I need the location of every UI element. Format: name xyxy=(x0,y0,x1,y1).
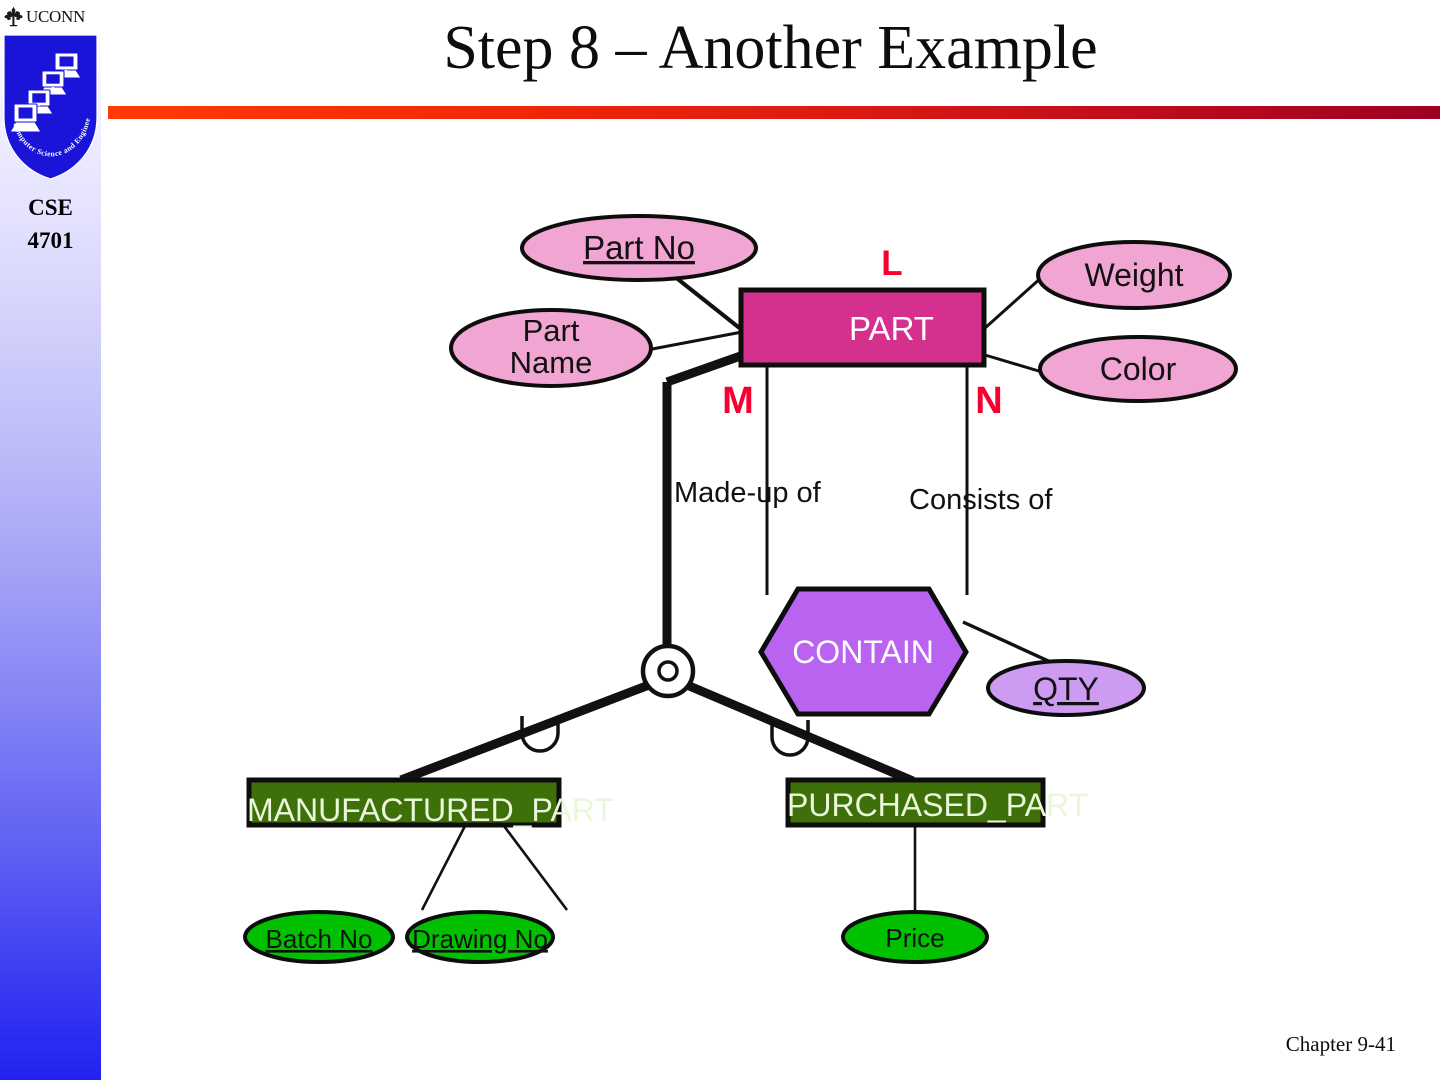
uconn-wordmark: UCONN xyxy=(0,0,101,32)
er-diagram-canvas: PART Part No Part Name Weight Color xyxy=(101,125,1440,1025)
entity-manufactured-part-label: MANUFACTURED_PART xyxy=(247,792,614,828)
edge-part-to-part-name xyxy=(647,332,742,350)
slide: UCONN xyxy=(0,0,1440,1080)
attribute-part-no-label: Part No xyxy=(583,229,695,266)
attribute-batch-no-label: Batch No xyxy=(266,924,373,954)
cse-shield-logo: Computer Science and Engineering xyxy=(2,33,99,181)
cardinality-label-n: N xyxy=(975,380,1002,422)
edge-spec-to-mfg xyxy=(401,685,649,780)
attribute-batch-no[interactable]: Batch No xyxy=(245,912,393,962)
entity-part[interactable]: PART xyxy=(741,290,984,365)
er-diagram: PART Part No Part Name Weight Color xyxy=(101,125,1440,1025)
entity-part-label: PART xyxy=(849,310,934,347)
edge-part-to-color xyxy=(985,355,1042,372)
edge-part-to-spec-diagonal xyxy=(667,353,749,382)
slide-footer: Chapter 9-41 xyxy=(1286,1032,1396,1057)
role-label-consists-of: Consists of xyxy=(909,484,1053,516)
attribute-part-name[interactable]: Part Name xyxy=(451,310,651,386)
attribute-price-label: Price xyxy=(885,923,944,953)
attribute-weight-label: Weight xyxy=(1084,257,1183,293)
attribute-weight[interactable]: Weight xyxy=(1038,242,1230,308)
course-code-line1: CSE xyxy=(0,192,101,225)
specialization-connectors xyxy=(401,353,913,781)
title-divider-rule xyxy=(108,106,1440,119)
relationship-contain-label: CONTAIN xyxy=(792,634,934,670)
edge-mfg-to-drawing-no xyxy=(501,822,567,910)
attribute-drawing-no[interactable]: Drawing No xyxy=(407,912,553,962)
course-code-label: CSE 4701 xyxy=(0,192,101,257)
attribute-part-name-label-line1: Part xyxy=(523,313,580,348)
attribute-qty-label: QTY xyxy=(1033,671,1099,707)
attribute-color-label: Color xyxy=(1100,351,1177,387)
cardinality-label-m: M xyxy=(722,380,754,422)
specialization-circle xyxy=(643,646,693,696)
relationship-contain[interactable]: CONTAIN xyxy=(761,589,966,714)
course-code-line2: 4701 xyxy=(0,225,101,258)
cardinality-label-l: L xyxy=(881,244,902,283)
entity-manufactured-part[interactable]: MANUFACTURED_PART xyxy=(247,780,614,828)
sidebar: UCONN xyxy=(0,0,101,1080)
attribute-drawing-no-label: Drawing No xyxy=(412,924,548,954)
oak-tree-icon xyxy=(4,5,23,27)
edge-part-to-weight xyxy=(985,277,1042,328)
attribute-qty[interactable]: QTY xyxy=(988,661,1144,715)
entity-purchased-part-label: PURCHASED_PART xyxy=(787,787,1088,823)
shield-icon: Computer Science and Engineering xyxy=(2,33,99,181)
attribute-part-name-label-line2: Name xyxy=(510,345,593,380)
edge-mfg-to-batch-no xyxy=(422,822,467,910)
role-label-made-up-of: Made-up of xyxy=(674,477,822,509)
page-title: Step 8 – Another Example xyxy=(101,10,1440,88)
spec-circle-inner-o xyxy=(659,662,677,680)
entity-purchased-part[interactable]: PURCHASED_PART xyxy=(787,780,1088,825)
attribute-price[interactable]: Price xyxy=(843,912,987,962)
attribute-part-no[interactable]: Part No xyxy=(522,216,756,280)
uconn-wordmark-text: UCONN xyxy=(26,8,85,25)
attribute-color[interactable]: Color xyxy=(1040,337,1236,401)
